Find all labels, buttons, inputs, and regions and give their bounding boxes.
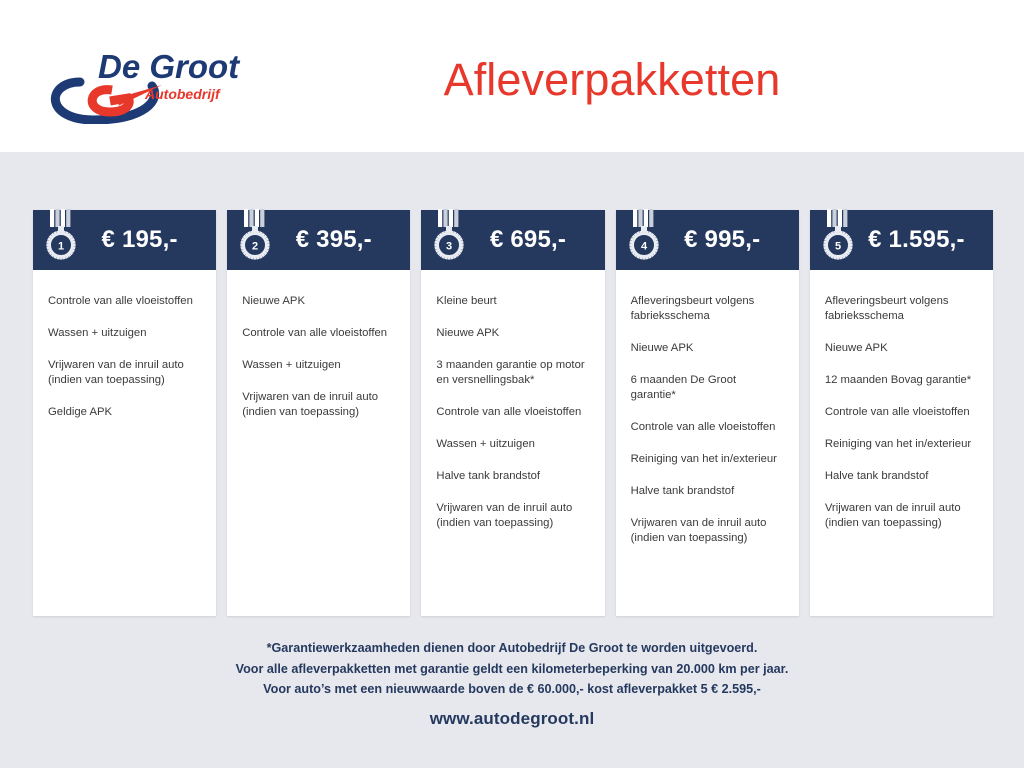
package-card-header: 4 € 995,- — [616, 210, 799, 270]
package-price: € 195,- — [81, 226, 202, 254]
package-card[interactable]: 4 € 995,-Afleveringsbeurt volgens fabrie… — [616, 210, 799, 616]
page-title: Afleverpakketten — [0, 50, 1024, 110]
package-feature-item: Controle van alle vloeistoffen — [436, 405, 589, 420]
package-card-header: 3 € 695,- — [421, 210, 604, 270]
package-feature-item: 3 maanden garantie op motor en versnelli… — [436, 358, 589, 388]
package-feature-item: Wassen + uitzuigen — [242, 358, 395, 373]
package-feature-item: Vrijwaren van de inruil auto (indien van… — [825, 501, 978, 531]
package-card[interactable]: 2 € 395,-Nieuwe APKControle van alle vlo… — [227, 210, 410, 616]
package-feature-item: Controle van alle vloeistoffen — [48, 294, 201, 309]
package-feature-item: Vrijwaren van de inruil auto (indien van… — [436, 501, 589, 531]
medal-icon: 4 — [624, 207, 664, 265]
package-card-header: 1 € 195,- — [33, 210, 216, 270]
svg-text:4: 4 — [641, 240, 648, 252]
svg-text:5: 5 — [835, 240, 841, 252]
package-price: € 695,- — [469, 226, 590, 254]
package-feature-item: Controle van alle vloeistoffen — [825, 405, 978, 420]
package-feature-item: 12 maanden Bovag garantie* — [825, 373, 978, 388]
svg-text:2: 2 — [252, 240, 258, 252]
package-feature-item: Nieuwe APK — [825, 341, 978, 356]
medal-icon: 1 — [41, 207, 81, 265]
medal-disc: 5 — [823, 230, 852, 259]
package-feature-item: Halve tank brandstof — [825, 469, 978, 484]
package-feature-list: Afleveringsbeurt volgens fabrieksschemaN… — [810, 270, 993, 616]
medal-ribbon — [50, 209, 70, 232]
package-feature-item: Halve tank brandstof — [631, 484, 784, 499]
package-feature-item: Nieuwe APK — [242, 294, 395, 309]
package-feature-list: Afleveringsbeurt volgens fabrieksschemaN… — [616, 270, 799, 616]
footnote-line-3: Voor auto’s met een nieuwwaarde boven de… — [0, 679, 1024, 700]
svg-text:3: 3 — [446, 240, 452, 252]
package-feature-item: Nieuwe APK — [436, 326, 589, 341]
package-feature-item: Controle van alle vloeistoffen — [242, 326, 395, 341]
package-feature-item: Reiniging van het in/exterieur — [825, 437, 978, 452]
medal-icon: 3 — [429, 207, 469, 265]
package-card-header: 5 € 1.595,- — [810, 210, 993, 270]
medal-disc: 2 — [241, 230, 270, 259]
medal-disc: 1 — [46, 230, 75, 259]
package-feature-item: Vrijwaren van de inruil auto (indien van… — [48, 358, 201, 388]
package-feature-item: Reiniging van het in/exterieur — [631, 452, 784, 467]
medal-disc: 3 — [435, 230, 464, 259]
package-feature-list: Nieuwe APKControle van alle vloeistoffen… — [227, 270, 410, 616]
website-url[interactable]: www.autodegroot.nl — [0, 709, 1024, 729]
package-feature-item: Afleveringsbeurt volgens fabrieksschema — [825, 294, 978, 324]
medal-icon: 5 — [818, 207, 858, 265]
medal-ribbon — [244, 209, 264, 232]
package-card-list: 1 € 195,-Controle van alle vloeistoffenW… — [33, 210, 993, 616]
svg-text:1: 1 — [58, 240, 64, 252]
footnote-block: *Garantiewerkzaamheden dienen door Autob… — [0, 638, 1024, 700]
package-feature-item: Geldige APK — [48, 405, 201, 420]
package-card[interactable]: 3 € 695,-Kleine beurtNieuwe APK3 maanden… — [421, 210, 604, 616]
package-feature-item: Halve tank brandstof — [436, 469, 589, 484]
package-card[interactable]: 1 € 195,-Controle van alle vloeistoffenW… — [33, 210, 216, 616]
package-feature-item: Vrijwaren van de inruil auto (indien van… — [242, 390, 395, 420]
package-feature-item: Controle van alle vloeistoffen — [631, 420, 784, 435]
package-feature-item: Wassen + uitzuigen — [48, 326, 201, 341]
medal-icon: 2 — [235, 207, 275, 265]
package-feature-list: Controle van alle vloeistoffenWassen + u… — [33, 270, 216, 616]
package-card-header: 2 € 395,- — [227, 210, 410, 270]
package-feature-item: Vrijwaren van de inruil auto (indien van… — [631, 516, 784, 546]
package-feature-list: Kleine beurtNieuwe APK3 maanden garantie… — [421, 270, 604, 616]
package-feature-item: 6 maanden De Groot garantie* — [631, 373, 784, 403]
package-feature-item: Kleine beurt — [436, 294, 589, 309]
package-price: € 395,- — [275, 226, 396, 254]
medal-ribbon — [633, 209, 653, 232]
package-feature-item: Nieuwe APK — [631, 341, 784, 356]
medal-ribbon — [438, 209, 458, 232]
medal-disc: 4 — [629, 230, 658, 259]
package-card[interactable]: 5 € 1.595,-Afleveringsbeurt volgens fabr… — [810, 210, 993, 616]
poster-page: De Groot Autobedrijf Afleverpakketten 1 … — [0, 0, 1024, 768]
medal-ribbon — [827, 209, 847, 232]
package-price: € 995,- — [664, 226, 785, 254]
package-feature-item: Wassen + uitzuigen — [436, 437, 589, 452]
package-feature-item: Afleveringsbeurt volgens fabrieksschema — [631, 294, 784, 324]
footnote-line-2: Voor alle afleverpakketten met garantie … — [0, 659, 1024, 680]
package-price: € 1.595,- — [858, 226, 979, 254]
footnote-line-1: *Garantiewerkzaamheden dienen door Autob… — [0, 638, 1024, 659]
top-header-bar: De Groot Autobedrijf Afleverpakketten — [0, 0, 1024, 152]
